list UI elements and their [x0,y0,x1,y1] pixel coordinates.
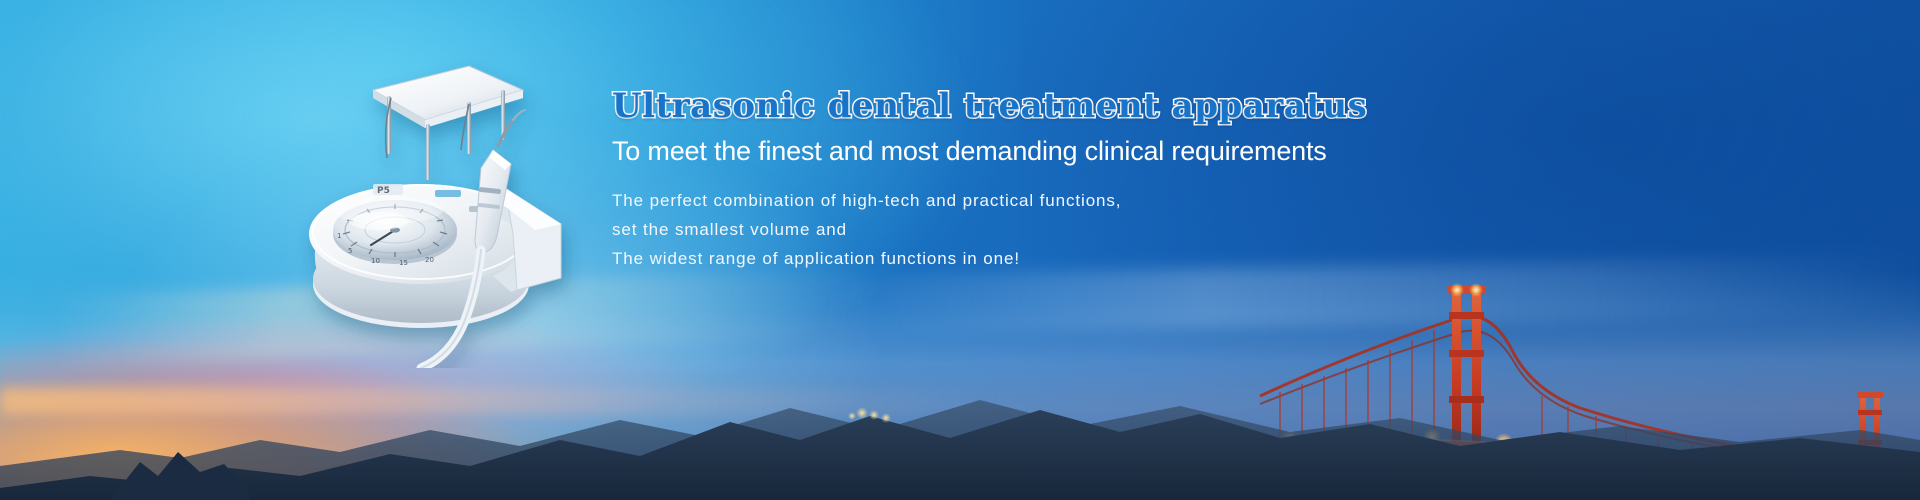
svg-text:20: 20 [425,256,434,264]
banner-copy: Ultrasonic dental treatment apparatus To… [612,86,1332,273]
svg-text:5: 5 [348,247,352,255]
banner-body: The perfect combination of high-tech and… [612,186,1332,273]
product-brand-badge: P5 [373,184,403,196]
banner-body-line-2: set the smallest volume and [612,215,1332,244]
banner-body-line-1: The perfect combination of high-tech and… [612,186,1332,215]
svg-text:10: 10 [371,257,380,265]
promo-banner: 1 5 10 15 20 P5 [0,0,1920,500]
svg-text:15: 15 [399,259,408,267]
product-indicator-strip [435,190,461,197]
svg-text:1: 1 [337,232,341,240]
svg-text:P5: P5 [377,186,390,196]
product-image-ultrasonic-scaler: 1 5 10 15 20 P5 [255,38,595,368]
banner-subtitle: To meet the finest and most demanding cl… [612,134,1332,168]
banner-title: Ultrasonic dental treatment apparatus [612,86,1332,126]
banner-body-line-3: The widest range of application function… [612,244,1332,273]
